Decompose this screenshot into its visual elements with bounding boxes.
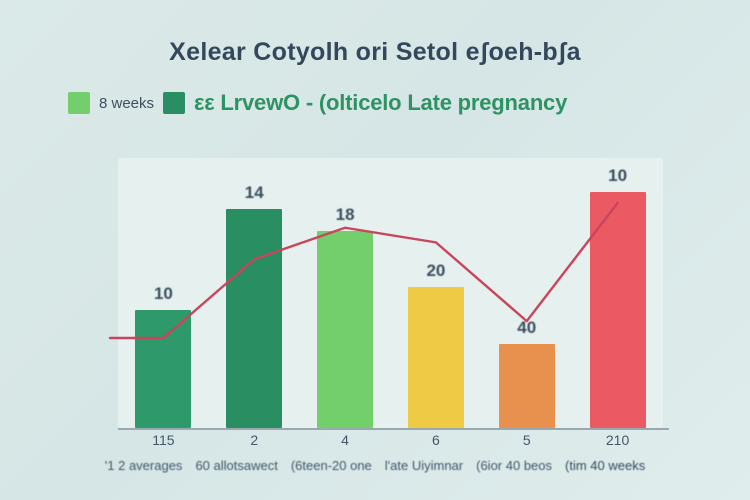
caption-item-1: '1 2 averages <box>105 458 183 473</box>
bar-value-label-1: 10 <box>113 284 213 304</box>
bar-3[interactable] <box>317 231 373 428</box>
bar-4[interactable] <box>408 287 464 428</box>
x-tick-label-4: 6 <box>386 432 486 448</box>
bar-2[interactable] <box>226 209 282 428</box>
bar-value-label-5: 40 <box>477 318 577 338</box>
caption-item-4: l'ate Uiyimnar <box>385 458 463 473</box>
bar-value-label-3: 18 <box>295 205 395 225</box>
chart-title: Xelear Cotyolh ori Setol eʃoeh-bʃa <box>0 38 750 67</box>
legend-item-late-pregnancy[interactable]: εε LrvewO - (olticelo Late pregnancy <box>163 90 567 116</box>
x-tick-label-2: 2 <box>204 432 304 448</box>
legend-item-8-weeks[interactable]: 8 weeks <box>68 92 154 114</box>
caption-item-6: (tim 40 weeks <box>565 458 645 473</box>
chart-legend: 8 weeks εε LrvewO - (olticelo Late pregn… <box>68 90 567 116</box>
x-tick-label-5: 5 <box>477 432 577 448</box>
caption-item-3: (6teen-20 one <box>291 458 372 473</box>
legend-label-late-pregnancy: εε LrvewO - (olticelo Late pregnancy <box>194 90 567 116</box>
x-tick-label-1: 115 <box>113 432 213 448</box>
bar-value-label-2: 14 <box>204 183 304 203</box>
bar-5[interactable] <box>499 344 555 428</box>
chart-figure: Xelear Cotyolh ori Setol eʃoeh-bʃa 8 wee… <box>0 0 750 500</box>
legend-swatch-light-green <box>68 92 90 114</box>
caption-item-2: 60 allotsawect <box>195 458 277 473</box>
x-tick-label-6: 210 <box>568 432 668 448</box>
x-tick-label-3: 4 <box>295 432 395 448</box>
caption-item-5: (6ior 40 beos <box>476 458 552 473</box>
bar-value-label-6: 10 <box>568 166 668 186</box>
plot-area: 101418204010 <box>118 158 663 428</box>
legend-label-8-weeks: 8 weeks <box>99 95 154 112</box>
bar-1[interactable] <box>135 310 191 428</box>
bottom-caption-row: '1 2 averages60 allotsawect(6teen-20 one… <box>0 458 750 473</box>
x-axis-line <box>118 428 669 430</box>
bar-value-label-4: 20 <box>386 261 486 281</box>
bar-6[interactable] <box>590 192 646 428</box>
legend-swatch-dark-green <box>163 92 185 114</box>
